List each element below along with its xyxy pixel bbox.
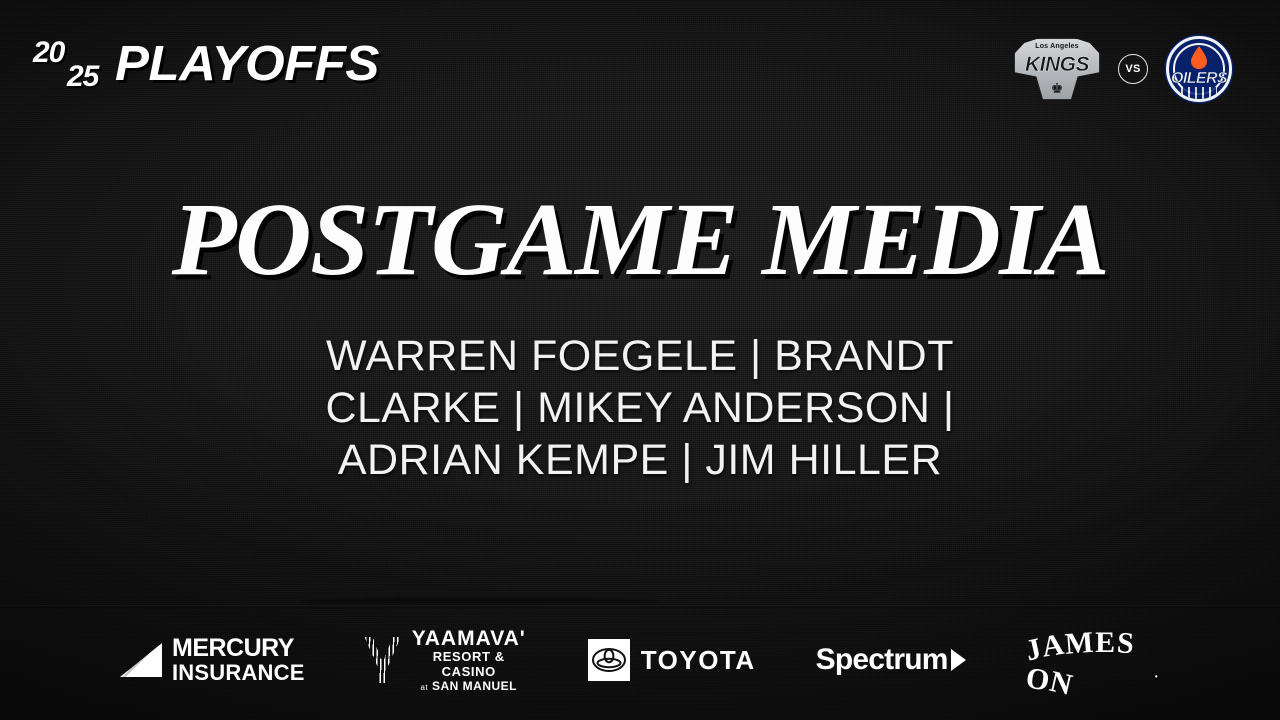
oilers-bars bbox=[1181, 87, 1217, 102]
spectrum-wordmark: Spectrum bbox=[816, 643, 948, 677]
jameson-wordmark: JAMESON bbox=[1026, 626, 1151, 694]
yaamava-y-icon bbox=[365, 637, 401, 683]
toyota-wordmark: TOYOTA bbox=[641, 645, 756, 676]
broadcast-graphic: 20 25 PLAYOFFS Los Angeles KINGS ♚ VS OI… bbox=[0, 0, 1280, 720]
yaamava-at: at bbox=[420, 683, 428, 692]
playoffs-year-top: 20 bbox=[33, 38, 64, 68]
page-title: POSTGAME MEDIA bbox=[0, 188, 1280, 292]
toyota-emblem-icon bbox=[588, 639, 630, 681]
sponsor-mercury-insurance: MERCURY INSURANCE bbox=[120, 636, 305, 684]
playoffs-year: 20 25 bbox=[33, 36, 113, 94]
playoffs-word: PLAYOFFS bbox=[115, 40, 379, 89]
yaamava-line3: at SAN MANUEL bbox=[410, 680, 528, 693]
sponsor-yaamava: YAAMAVA' RESORT & CASINO at SAN MANUEL bbox=[365, 627, 528, 693]
kings-city-label: Los Angeles bbox=[1014, 43, 1100, 50]
yaamava-line2: RESORT & CASINO bbox=[410, 650, 528, 679]
mercury-line1: MERCURY bbox=[172, 636, 305, 662]
sponsor-bar: MERCURY INSURANCE YAAMAVA' RESORT & CASI… bbox=[0, 608, 1280, 720]
oil-drop-icon bbox=[1191, 46, 1208, 69]
yaamava-line1: YAAMAVA' bbox=[410, 627, 528, 651]
playoffs-lockup: 20 25 PLAYOFFS bbox=[33, 36, 369, 94]
crown-icon: ♚ bbox=[1014, 81, 1100, 95]
sponsor-jameson: JAMESON · bbox=[1026, 626, 1160, 694]
mercury-line2: INSURANCE bbox=[172, 662, 305, 684]
spectrum-triangle-icon bbox=[951, 649, 966, 671]
mercury-sail-icon bbox=[120, 643, 162, 677]
oilers-wordmark: OILERS bbox=[1169, 70, 1229, 88]
registered-mark: ® bbox=[1226, 92, 1230, 98]
sponsor-toyota: TOYOTA bbox=[588, 639, 756, 681]
backdrop-seam-shadow bbox=[300, 598, 660, 605]
jameson-trademark: · bbox=[1154, 670, 1160, 686]
playoffs-year-bottom: 25 bbox=[67, 62, 98, 92]
yaamava-property: SAN MANUEL bbox=[432, 679, 517, 693]
kings-wordmark: KINGS bbox=[1014, 53, 1100, 77]
kings-logo: Los Angeles KINGS ♚ bbox=[1014, 38, 1100, 100]
sponsor-spectrum: Spectrum bbox=[816, 643, 966, 677]
oilers-logo: OILERS ® bbox=[1166, 36, 1232, 102]
vs-badge: VS bbox=[1118, 54, 1148, 84]
vs-label: VS bbox=[1125, 63, 1140, 75]
participants-list: WARREN FOEGELE | BRANDT CLARKE | MIKEY A… bbox=[320, 330, 960, 486]
matchup-lockup: Los Angeles KINGS ♚ VS OILERS ® bbox=[1014, 36, 1232, 102]
